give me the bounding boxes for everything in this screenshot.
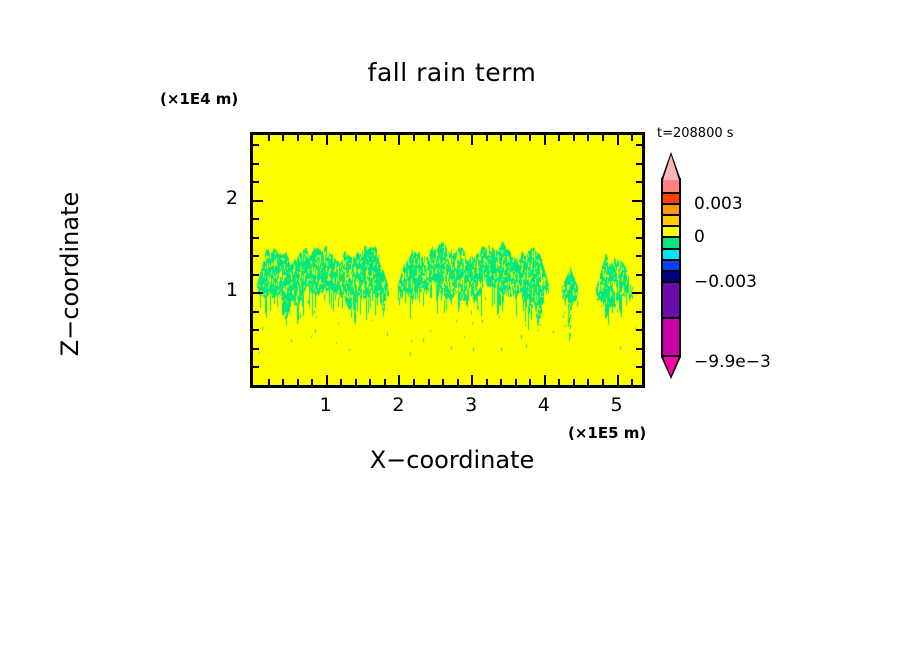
- x-tick-top: [471, 135, 473, 145]
- y-tick-label: 1: [216, 279, 238, 301]
- x-tick-top: [617, 135, 619, 145]
- x-tick-label: 5: [602, 394, 632, 416]
- x-tick-top: [442, 135, 444, 141]
- colorbar-top-cap-fill: [663, 155, 679, 180]
- x-tick-bottom: [471, 375, 473, 385]
- x-axis-unit-label: (×1E5 m): [568, 424, 646, 442]
- y-tick-left: [253, 329, 259, 331]
- x-tick-bottom: [355, 379, 357, 385]
- x-tick-top: [602, 135, 604, 141]
- x-tick-top: [355, 135, 357, 141]
- plot-area: [250, 132, 645, 388]
- x-tick-top: [457, 135, 459, 141]
- time-annotation: t=208800 s: [657, 126, 734, 141]
- y-tick-left: [253, 144, 259, 146]
- y-tick-right: [636, 274, 642, 276]
- x-tick-top: [268, 135, 270, 141]
- y-tick-right: [636, 329, 642, 331]
- y-tick-right: [636, 255, 642, 257]
- x-tick-bottom: [587, 379, 589, 385]
- colorbar-tick-label: 0: [694, 227, 705, 247]
- y-tick-label: 2: [216, 187, 238, 209]
- x-tick-top: [384, 135, 386, 141]
- x-tick-bottom: [311, 379, 313, 385]
- x-tick-bottom: [384, 379, 386, 385]
- x-tick-top: [369, 135, 371, 141]
- x-tick-bottom: [515, 379, 517, 385]
- x-tick-bottom: [340, 379, 342, 385]
- y-axis-unit-label: (×1E4 m): [160, 90, 238, 108]
- colorbar-band: [661, 281, 681, 319]
- x-tick-top: [428, 135, 430, 141]
- x-tick-bottom: [326, 375, 328, 385]
- y-tick-right: [636, 348, 642, 350]
- y-tick-left: [253, 274, 259, 276]
- y-tick-left: [253, 311, 259, 313]
- x-tick-bottom: [282, 379, 284, 385]
- x-tick-top: [486, 135, 488, 141]
- y-tick-left: [253, 163, 259, 165]
- x-tick-top: [282, 135, 284, 141]
- y-tick-left: [253, 292, 263, 294]
- y-tick-right: [632, 292, 642, 294]
- x-tick-top: [398, 135, 400, 145]
- y-tick-left: [253, 181, 259, 183]
- y-tick-left: [253, 366, 259, 368]
- x-tick-bottom: [428, 379, 430, 385]
- x-tick-bottom: [602, 379, 604, 385]
- x-tick-top: [515, 135, 517, 141]
- x-tick-bottom: [500, 379, 502, 385]
- x-tick-top: [544, 135, 546, 145]
- x-tick-bottom: [617, 375, 619, 385]
- x-tick-top: [631, 135, 633, 141]
- x-tick-bottom: [369, 379, 371, 385]
- y-tick-right: [636, 163, 642, 165]
- x-axis-title: X−coordinate: [0, 446, 904, 474]
- y-tick-right: [636, 218, 642, 220]
- x-tick-bottom: [413, 379, 415, 385]
- x-tick-bottom: [297, 379, 299, 385]
- colorbar-band: [661, 317, 681, 357]
- x-tick-label: 1: [311, 394, 341, 416]
- heatmap-field: [253, 135, 642, 385]
- x-tick-bottom: [558, 379, 560, 385]
- y-tick-right: [636, 181, 642, 183]
- colorbar: [661, 152, 681, 400]
- x-tick-label: 3: [456, 394, 486, 416]
- page-title: fall rain term: [0, 58, 904, 87]
- y-tick-left: [253, 255, 259, 257]
- x-tick-top: [413, 135, 415, 141]
- x-tick-bottom: [442, 379, 444, 385]
- y-axis-title: Z−coordinate: [56, 144, 84, 404]
- colorbar-tick-label: −9.9e−3: [694, 352, 771, 372]
- y-tick-right: [636, 237, 642, 239]
- x-tick-bottom: [573, 379, 575, 385]
- x-tick-bottom: [268, 379, 270, 385]
- x-tick-top: [297, 135, 299, 141]
- y-tick-right: [636, 144, 642, 146]
- x-tick-bottom: [529, 379, 531, 385]
- y-tick-left: [253, 200, 263, 202]
- y-tick-left: [253, 348, 259, 350]
- colorbar-tick-label: 0.003: [694, 194, 743, 214]
- x-tick-top: [587, 135, 589, 141]
- x-tick-bottom: [486, 379, 488, 385]
- x-tick-bottom: [398, 375, 400, 385]
- x-tick-label: 4: [529, 394, 559, 416]
- x-tick-top: [326, 135, 328, 145]
- y-tick-right: [632, 200, 642, 202]
- x-tick-label: 2: [383, 394, 413, 416]
- x-tick-bottom: [631, 379, 633, 385]
- y-tick-left: [253, 237, 259, 239]
- x-tick-top: [529, 135, 531, 141]
- y-tick-right: [636, 366, 642, 368]
- x-tick-top: [340, 135, 342, 141]
- colorbar-tick-label: −0.003: [694, 272, 757, 292]
- x-tick-top: [311, 135, 313, 141]
- y-tick-right: [636, 311, 642, 313]
- x-tick-top: [558, 135, 560, 141]
- y-tick-left: [253, 218, 259, 220]
- x-tick-bottom: [457, 379, 459, 385]
- x-tick-bottom: [544, 375, 546, 385]
- x-tick-top: [573, 135, 575, 141]
- x-tick-top: [500, 135, 502, 141]
